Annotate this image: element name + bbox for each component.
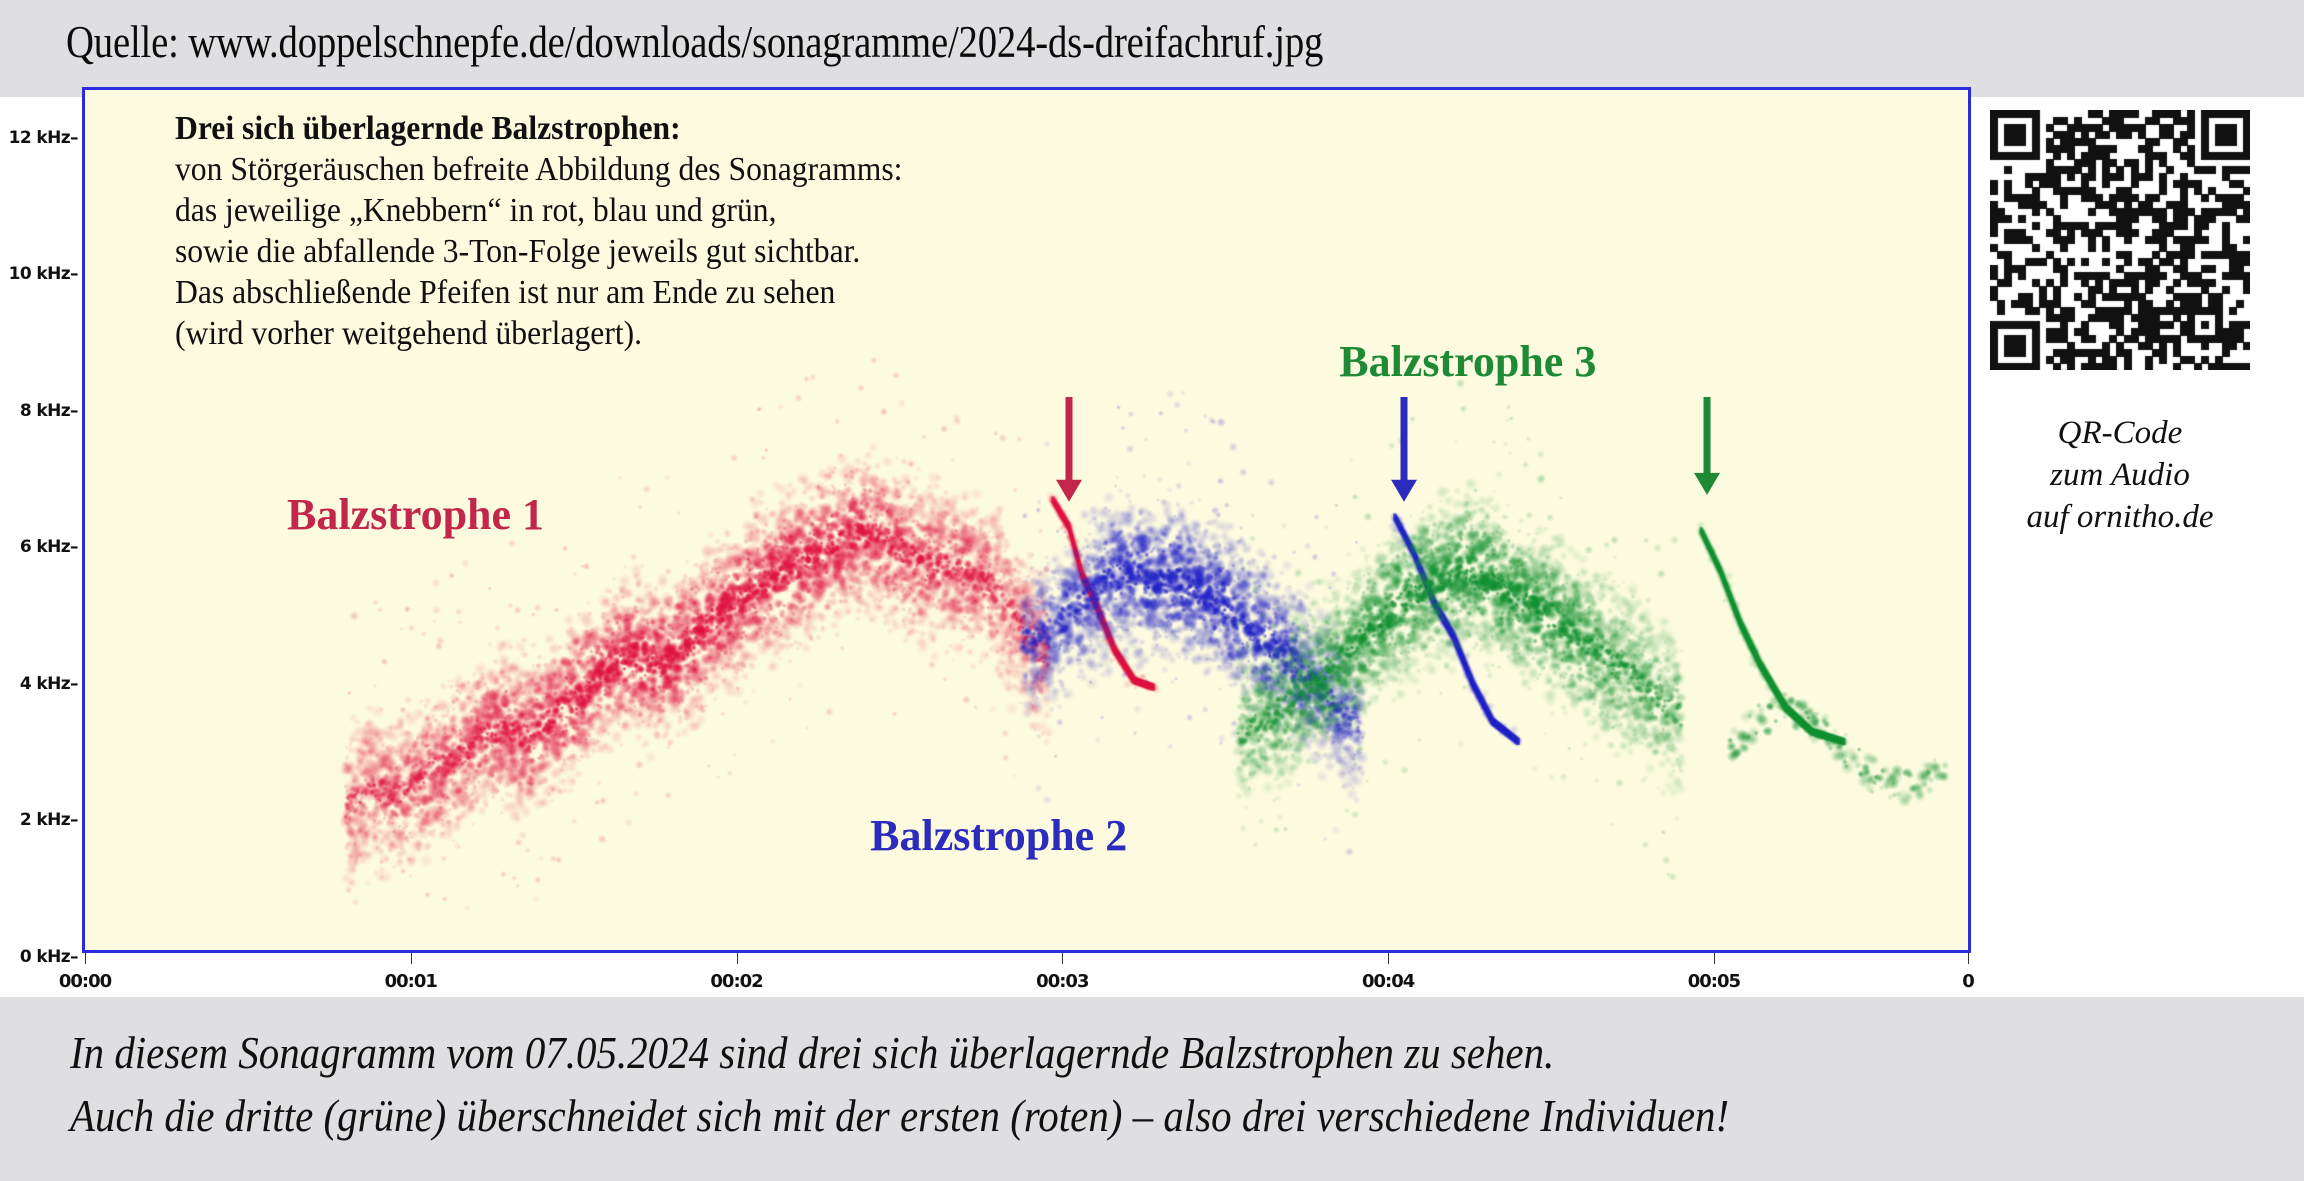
footer-bar: In diesem Sonagramm vom 07.05.2024 sind …: [0, 997, 2304, 1181]
x-axis-tick-label: 00:01: [385, 971, 437, 992]
label-balzstrophe-1: Balzstrophe 1: [287, 489, 544, 540]
label-balzstrophe-3: Balzstrophe 3: [1339, 336, 1596, 387]
spectrogram-panel: Drei sich überlagernde Balzstrophen: von…: [82, 87, 1971, 953]
qr-caption: QR-Code zum Audio auf ornitho.de: [1970, 412, 2270, 538]
annotation-line-1: Drei sich überlagernde Balzstrophen:: [175, 108, 902, 149]
qr-code-image[interactable]: [1990, 110, 2250, 370]
annotation-arrow-icon: [1690, 397, 1724, 495]
x-axis-tick-mark: [1968, 953, 1969, 964]
x-axis-tick-label: 00:05: [1688, 971, 1740, 992]
x-axis: 00:0000:0100:0200:0300:0400:050: [82, 953, 1971, 997]
annotation-line-5: Das abschließende Pfeifen ist nur am End…: [175, 272, 902, 313]
x-axis-tick-label: 00:03: [1036, 971, 1088, 992]
qr-panel: QR-Code zum Audio auf ornitho.de: [1990, 102, 2280, 602]
x-axis-tick-mark: [1388, 953, 1389, 964]
y-axis-tick-label: 8 kHz–: [20, 401, 82, 421]
annotation-arrow-icon: [1052, 397, 1086, 502]
y-axis-tick-label: 0 kHz–: [20, 947, 82, 967]
header-bar: Quelle: www.doppelschnepfe.de/downloads/…: [0, 0, 2304, 97]
sonagram-stage: 12 kHz–10 kHz–8 kHz–6 kHz–4 kHz–2 kHz–0 …: [0, 97, 2304, 997]
y-axis-tick-label: 10 kHz–: [9, 264, 82, 284]
x-axis-tick-mark: [85, 953, 86, 964]
x-axis-tick-mark: [1714, 953, 1715, 964]
qr-caption-line-2: zum Audio: [1970, 454, 2270, 496]
annotation-arrow-icon: [1387, 397, 1421, 502]
y-axis-tick-label: 2 kHz–: [20, 810, 82, 830]
qr-caption-line-3: auf ornitho.de: [1970, 496, 2270, 538]
x-axis-tick-label: 00:00: [59, 971, 111, 992]
x-axis-tick-mark: [411, 953, 412, 964]
annotation-line-2: von Störgeräuschen befreite Abbildung de…: [175, 149, 902, 190]
x-axis-tick-label: 00:04: [1362, 971, 1414, 992]
annotation-line-3: das jeweilige „Knebbern“ in rot, blau un…: [175, 190, 902, 231]
label-balzstrophe-2: Balzstrophe 2: [870, 810, 1127, 861]
annotation-line-6: (wird vorher weitgehend überlagert).: [175, 313, 902, 354]
y-axis: 12 kHz–10 kHz–8 kHz–6 kHz–4 kHz–2 kHz–0 …: [0, 87, 82, 953]
qr-caption-line-1: QR-Code: [1970, 412, 2270, 454]
annotation-text-block: Drei sich überlagernde Balzstrophen: von…: [175, 108, 902, 354]
x-axis-tick-label: 0: [1962, 971, 1974, 992]
annotation-line-4: sowie die abfallende 3-Ton-Folge jeweils…: [175, 231, 902, 272]
source-url-text: Quelle: www.doppelschnepfe.de/downloads/…: [66, 16, 1323, 68]
x-axis-tick-label: 00:02: [710, 971, 762, 992]
y-axis-tick-label: 12 kHz–: [9, 128, 82, 148]
footer-line-2: Auch die dritte (grüne) überschneidet si…: [70, 1084, 1729, 1147]
y-axis-tick-label: 4 kHz–: [20, 674, 82, 694]
x-axis-tick-mark: [1062, 953, 1063, 964]
footer-caption: In diesem Sonagramm vom 07.05.2024 sind …: [70, 1021, 1729, 1147]
x-axis-tick-mark: [737, 953, 738, 964]
y-axis-tick-label: 6 kHz–: [20, 537, 82, 557]
footer-line-1: In diesem Sonagramm vom 07.05.2024 sind …: [70, 1021, 1729, 1084]
